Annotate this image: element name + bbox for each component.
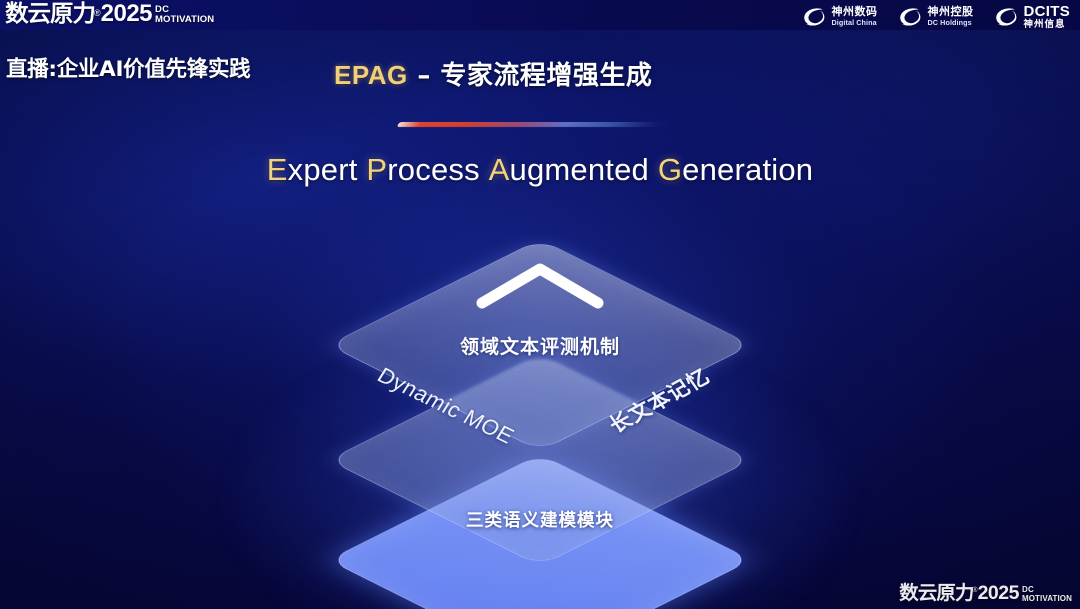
- title-separator: –: [408, 61, 441, 91]
- page-title: EPAG – 专家流程增强生成: [334, 55, 652, 92]
- spiral-swoosh-icon: [994, 6, 1019, 28]
- watermark-registered-mark: ®: [972, 585, 977, 597]
- english-initial-p: P: [366, 152, 387, 187]
- spiral-swoosh-icon: [802, 6, 827, 28]
- brand-registered-mark: ®: [94, 7, 101, 19]
- partner-name-en: Digital China: [832, 18, 878, 28]
- partner-name-cn: 神州数码: [832, 7, 878, 17]
- brand-logo-year: 2025: [101, 1, 152, 27]
- english-word-augmented: ugmented: [510, 152, 649, 187]
- partner-logo-dc-holdings: 神州控股 DC Holdings: [898, 6, 974, 28]
- english-word-expert: xpert: [288, 152, 358, 187]
- partner-logo-group: 神州数码 Digital China 神州控股 DC Holdings DCIT…: [802, 4, 1071, 30]
- partner-name-cn: 神州控股: [928, 7, 974, 17]
- watermark-chinese: 数云原力: [899, 583, 973, 604]
- partner-logo-dcits: DCITS 神州信息: [994, 4, 1071, 30]
- title-acronym: EPAG: [334, 60, 408, 90]
- watermark-motivation-text: MOTIVATION: [1022, 595, 1072, 604]
- livestream-subtitle: 直播:企业AI价值先锋实践: [6, 52, 250, 83]
- partner-logo-digital-china: 神州数码 Digital China: [802, 6, 878, 28]
- partner-name-en: DC Holdings: [928, 18, 974, 28]
- diagram-label-bottom: 三类语义建模模块: [466, 507, 614, 532]
- english-initial-a: A: [489, 152, 510, 187]
- english-word-process: rocess: [387, 152, 480, 187]
- partner-label-digital-china: 神州数码 Digital China: [832, 7, 878, 28]
- diagram-label-top: 领域文本评测机制: [460, 332, 620, 359]
- brand-logo-chinese: 数云原力: [5, 1, 95, 27]
- partner-name-cn: 神州信息: [1024, 20, 1071, 30]
- spiral-swoosh-icon: [898, 6, 923, 28]
- english-word-generation: eneration: [682, 152, 813, 187]
- english-space-2: [480, 152, 489, 187]
- english-initial-g: G: [658, 152, 682, 187]
- title-chinese: 专家流程增强生成: [440, 61, 652, 91]
- chevron-up-icon: [472, 259, 608, 311]
- english-space-3: [649, 152, 658, 187]
- watermark-dc-motivation: DC MOTIVATION: [1022, 586, 1072, 604]
- layered-architecture-diagram: 领域文本评测机制 Dynamic MOE 长文本记忆 三类语义建模模块: [0, 215, 1080, 595]
- english-initial-e: E: [267, 152, 288, 187]
- watermark-logo: 数云原力 ® 2025 DC MOTIVATION: [900, 583, 1072, 604]
- title-divider: [397, 122, 672, 127]
- watermark-year: 2025: [978, 583, 1019, 604]
- brand-logo-dc-motivation: DC MOTIVATION: [155, 5, 214, 27]
- partner-label-dc-holdings: 神州控股 DC Holdings: [928, 7, 974, 28]
- brand-logo: 数云原力 ® 2025 DC MOTIVATION: [6, 1, 214, 27]
- partner-name-en: DCITS: [1024, 4, 1071, 19]
- presentation-slide: 数云原力 ® 2025 DC MOTIVATION 神州数码 Digital C…: [0, 0, 1080, 609]
- brand-motivation-text: MOTIVATION: [155, 15, 214, 25]
- title-english-expansion: Expert Process Augmented Generation: [0, 152, 1080, 188]
- partner-label-dcits: DCITS 神州信息: [1024, 4, 1071, 30]
